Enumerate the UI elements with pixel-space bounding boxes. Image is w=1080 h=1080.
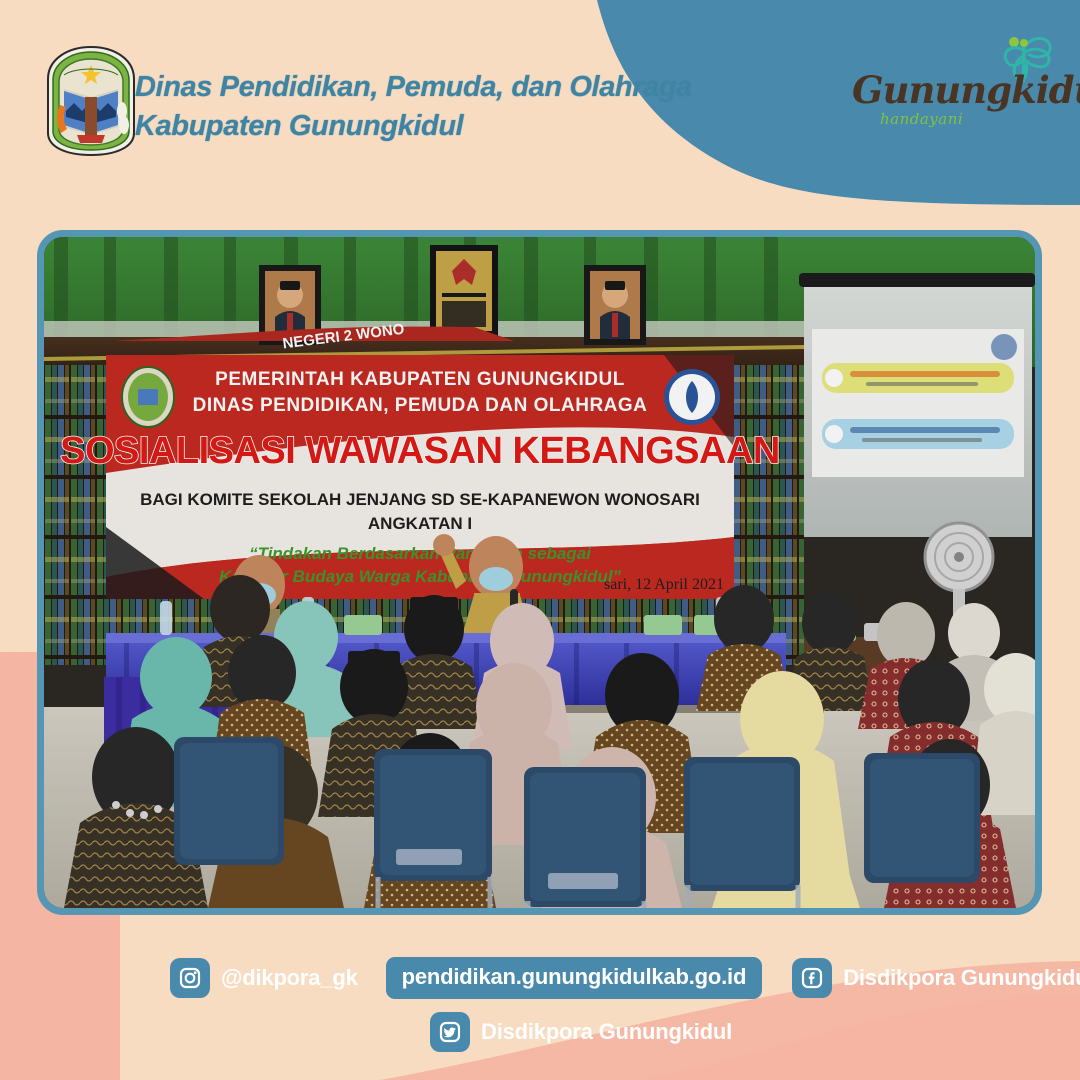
- header: Dinas Pendidikan, Pemuda, dan Olahraga K…: [0, 0, 1080, 200]
- brand-tagline: handayani: [880, 110, 963, 128]
- poster-canvas: Dinas Pendidikan, Pemuda, dan Olahraga K…: [0, 0, 1080, 1080]
- facebook-page-name[interactable]: Disdikpora Gunungkidul: [843, 965, 1080, 991]
- gunungkidul-brand-logo: Gunungkidul handayani: [852, 30, 1062, 140]
- footer-social-bar: @dikpora_gk pendidikan.gunungkidulkab.go…: [0, 935, 1080, 1080]
- brand-wordmark: Gunungkidul: [852, 68, 1032, 112]
- instagram-handle[interactable]: @dikpora_gk: [221, 965, 358, 991]
- regency-crest-icon: [42, 45, 140, 157]
- footer-row-primary: @dikpora_gk pendidikan.gunungkidulkab.go…: [170, 957, 1080, 999]
- twitter-icon[interactable]: [430, 1012, 470, 1052]
- twitter-account-name[interactable]: Disdikpora Gunungkidul: [481, 1019, 732, 1045]
- footer-row-secondary: Disdikpora Gunungkidul: [430, 1012, 732, 1052]
- instagram-icon[interactable]: [170, 958, 210, 998]
- seminar-photo-card: NEGERI 2 WONO PEMERINTAH KABUPATEN GUNUN…: [37, 230, 1042, 915]
- seminar-audience-photo: NEGERI 2 WONO PEMERINTAH KABUPATEN GUNUN…: [44, 237, 1035, 908]
- page-title: Dinas Pendidikan, Pemuda, dan Olahraga K…: [135, 68, 692, 145]
- org-title-line2: Kabupaten Gunungkidul: [135, 107, 692, 146]
- org-title-line1: Dinas Pendidikan, Pemuda, dan Olahraga: [135, 71, 692, 103]
- facebook-icon[interactable]: [792, 958, 832, 998]
- website-url-pill[interactable]: pendidikan.gunungkidulkab.go.id: [386, 957, 763, 999]
